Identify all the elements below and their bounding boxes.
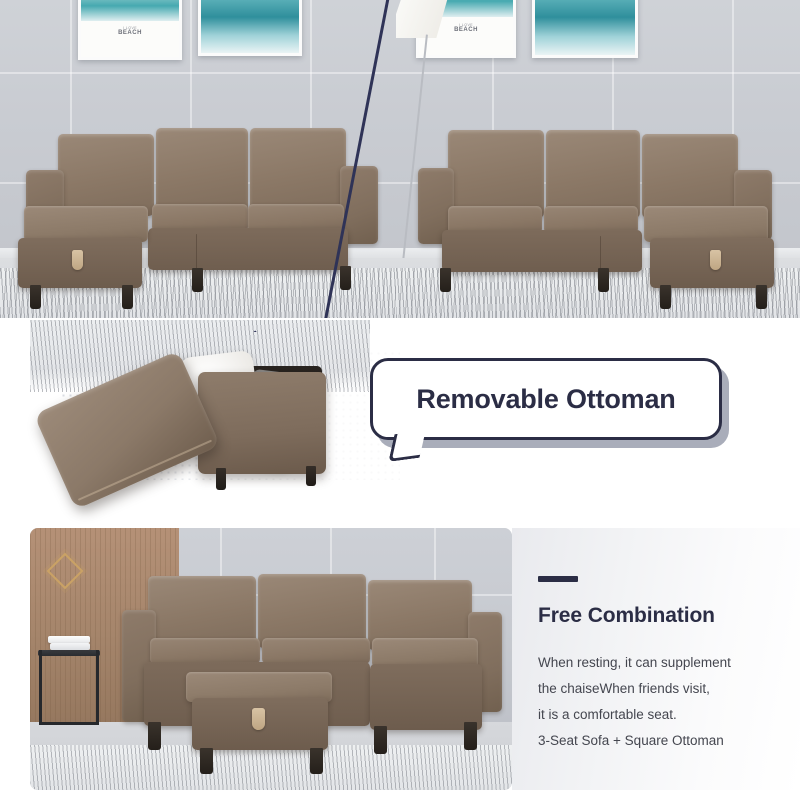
back-cushion <box>250 128 346 216</box>
sofa-leg <box>598 268 609 292</box>
title-rule <box>538 576 578 582</box>
art-sea <box>201 0 299 53</box>
back-cushion <box>58 134 154 216</box>
ottoman-feature-band: Removable Ottoman <box>0 318 800 518</box>
storage-pull-tab <box>710 250 721 270</box>
art-sea <box>535 0 635 55</box>
chaise-storage-body <box>370 664 482 730</box>
sectional-sofa-right-chaise <box>412 122 794 307</box>
ottoman-body <box>198 372 326 474</box>
sofa-base <box>442 230 642 272</box>
sofa-leg <box>374 726 387 754</box>
bottom-row: Free Combination When resting, it can su… <box>0 518 800 800</box>
book <box>50 643 90 650</box>
sofa-leg <box>756 285 767 309</box>
wall-art-ocean <box>532 0 638 58</box>
back-cushion <box>258 574 366 648</box>
sofa-leg <box>192 268 203 292</box>
bubble-body: Removable Ottoman <box>370 358 722 440</box>
chaise-seat <box>24 206 148 242</box>
storage-pull-tab <box>72 250 83 270</box>
wall-seam <box>396 72 800 74</box>
sofa-leg <box>148 722 161 750</box>
storage-pull-tab <box>252 708 265 730</box>
scene-living-room <box>30 528 512 790</box>
back-cushion <box>156 128 248 216</box>
feature-text-panel: Free Combination When resting, it can su… <box>512 528 800 790</box>
ottoman-leg <box>216 468 226 490</box>
body-line: 3-Seat Sofa + Square Ottoman <box>538 728 800 754</box>
ottoman-leg <box>200 748 213 774</box>
scene-right-chaise: I LOVE BEACH <box>396 0 800 318</box>
wall-art-beach: I LOVE BEACH <box>78 0 182 60</box>
wall-seam <box>0 72 404 74</box>
base-seam <box>196 234 197 270</box>
seat-cushion <box>262 638 370 664</box>
bubble-tail <box>388 430 425 462</box>
ottoman-detail-photo <box>30 320 370 505</box>
sectional-sofa-with-ottoman <box>126 576 506 776</box>
sofa-base <box>148 228 348 270</box>
sofa-leg <box>464 722 477 750</box>
art-caption: I LOVE BEACH <box>81 26 179 37</box>
sofa-leg <box>660 285 671 309</box>
book-stack <box>48 636 90 652</box>
top-scenes-row: I LOVE BEACH <box>0 0 800 318</box>
sofa-leg <box>340 266 351 290</box>
feature-heading: Free Combination <box>538 604 800 628</box>
body-line: When resting, it can supplement <box>538 650 800 676</box>
table-base <box>39 722 99 725</box>
back-cushion <box>448 130 544 218</box>
table-leg <box>39 650 42 724</box>
table-leg <box>96 650 99 724</box>
art-sea <box>81 0 179 21</box>
body-line: it is a comfortable seat. <box>538 702 800 728</box>
bubble-label: Removable Ottoman <box>416 384 675 415</box>
chaise-seat <box>644 206 768 242</box>
scene-left-chaise: I LOVE BEACH <box>0 0 404 318</box>
ottoman-leg <box>306 466 316 486</box>
sofa-leg <box>440 268 451 292</box>
sofa-leg <box>30 285 41 309</box>
callout-bubble: Removable Ottoman <box>370 358 750 478</box>
book <box>48 636 90 643</box>
side-table <box>38 636 100 728</box>
body-line: the chaiseWhen friends visit, <box>538 676 800 702</box>
product-feature-sheet: I LOVE BEACH <box>0 0 800 800</box>
base-seam <box>600 236 601 272</box>
sofa-leg <box>122 285 133 309</box>
ottoman-leg <box>310 748 323 774</box>
feature-body: When resting, it can supplement the chai… <box>538 650 800 754</box>
back-cushion <box>546 130 640 218</box>
seat-cushion <box>150 638 260 664</box>
wall-art-ocean <box>198 0 302 56</box>
